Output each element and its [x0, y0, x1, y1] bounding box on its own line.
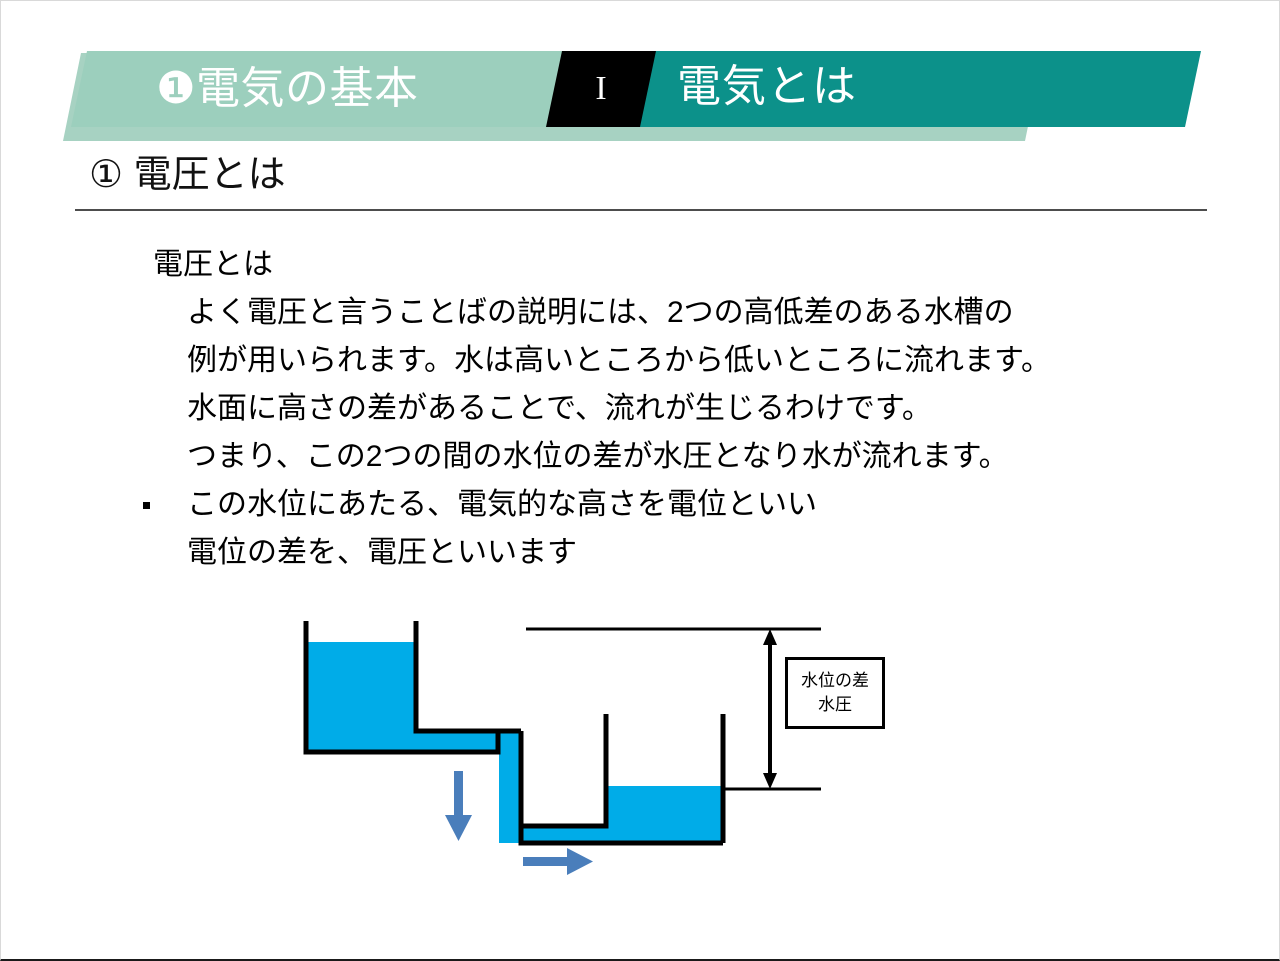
body-text-block: 電圧とは よく電圧と言うことばの説明には、2つの高低差のある水槽の 例が用いられ… — [131, 241, 1191, 577]
callout-line-2: 水圧 — [818, 693, 852, 717]
bullet-item: この水位にあたる、電気的な高さを電位といい — [131, 481, 1191, 529]
header-banner: ❶電気の基本 I 電気とは — [1, 41, 1280, 141]
body-paragraph-line: つまり、この2つの間の水位の差が水圧となり水が流れます。 — [131, 433, 1191, 481]
slide-canvas: ❶電気の基本 I 電気とは ① 電圧とは 電圧とは よく電圧と言うことばの説明に… — [0, 0, 1280, 961]
chapter-label: ❶電気の基本 — [156, 57, 418, 121]
rightward-flow-arrow — [523, 848, 593, 875]
bullet-text-line-1: この水位にあたる、電気的な高さを電位といい — [187, 488, 817, 521]
bullet-text-line-2: 電位の差を、電圧といいます — [131, 529, 1191, 577]
water-fill-shape — [306, 642, 721, 843]
title-divider — [75, 209, 1207, 211]
body-paragraph-line: よく電圧と言うことばの説明には、2つの高低差のある水槽の — [131, 289, 1191, 337]
head-difference-callout-box: 水位の差 水圧 — [785, 657, 885, 729]
page-title: ① 電圧とは — [89, 149, 286, 201]
banner-section-shape — [561, 51, 1201, 127]
head-difference-dimension-arrow — [763, 629, 777, 789]
water-tank-head-difference-diagram: 水位の差 水圧 — [281, 601, 981, 901]
bullet-marker-icon — [143, 502, 150, 509]
body-heading: 電圧とは — [131, 241, 1191, 289]
reference-lines — [526, 629, 821, 789]
body-paragraph-line: 例が用いられます。水は高いところから低いところに流れます。 — [131, 337, 1191, 385]
section-label: 電気とは — [677, 55, 857, 119]
callout-line-1: 水位の差 — [801, 669, 869, 693]
roman-numeral-label: I — [546, 57, 656, 121]
downward-flow-arrow — [445, 771, 472, 841]
body-paragraph-line: 水面に高さの差があることで、流れが生じるわけです。 — [131, 385, 1191, 433]
